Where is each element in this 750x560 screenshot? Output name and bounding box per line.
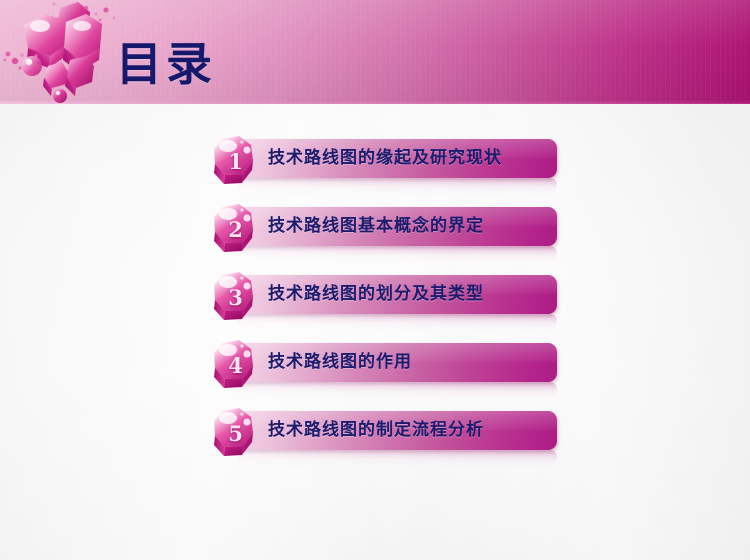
- header-bottom-edge: [0, 101, 750, 104]
- list-item[interactable]: 1 技术路线图的缘起及研究现状: [0, 133, 750, 201]
- toc-bar-reflection: [237, 178, 557, 195]
- toc-bar-reflection: [237, 382, 557, 399]
- gem-badge-icon: 2: [206, 201, 262, 257]
- toc-item-label: 技术路线图的作用: [268, 343, 412, 382]
- list-item[interactable]: 5 技术路线图的制定流程分析: [0, 405, 750, 473]
- list-item[interactable]: 4 技术路线图的作用: [0, 337, 750, 405]
- toc-item-number: 5: [206, 405, 262, 461]
- page-title: 目录: [116, 28, 216, 94]
- toc-item-number: 2: [206, 201, 262, 257]
- slide-header-band: [0, 0, 750, 103]
- toc-item-label: 技术路线图的划分及其类型: [268, 275, 484, 314]
- presentation-slide: 目录: [0, 0, 750, 560]
- list-item[interactable]: 2 技术路线图基本概念的界定: [0, 201, 750, 269]
- list-item[interactable]: 3 技术路线图的划分及其类型: [0, 269, 750, 337]
- toc-bar-reflection: [237, 450, 557, 467]
- toc-item-number: 3: [206, 269, 262, 325]
- toc-item-number: 1: [206, 133, 262, 189]
- toc-bar-reflection: [237, 314, 557, 331]
- gem-badge-icon: 3: [206, 269, 262, 325]
- gem-badge-icon: 4: [206, 337, 262, 393]
- gem-badge-icon: 5: [206, 405, 262, 461]
- gem-badge-icon: 1: [206, 133, 262, 189]
- toc-item-label: 技术路线图的制定流程分析: [268, 411, 484, 450]
- table-of-contents: 1 技术路线图的缘起及研究现状 2: [0, 133, 750, 473]
- toc-item-label: 技术路线图基本概念的界定: [268, 207, 484, 246]
- toc-item-label: 技术路线图的缘起及研究现状: [268, 139, 502, 178]
- toc-bar-reflection: [237, 246, 557, 263]
- toc-item-number: 4: [206, 337, 262, 393]
